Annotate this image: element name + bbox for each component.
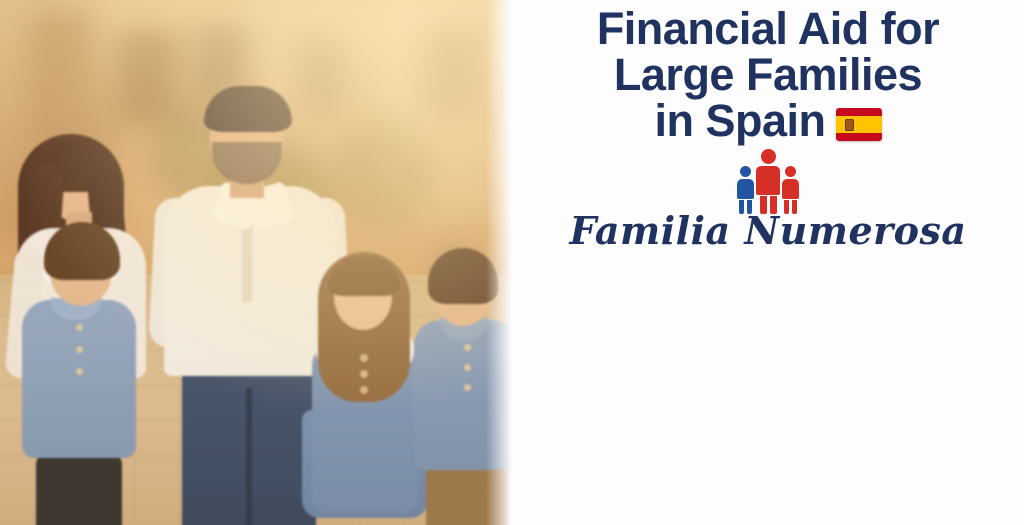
promo-banner: Financial Aid for Large Families in Spai… [0,0,1024,525]
headline-line-3: in Spain [524,98,1012,144]
page-title: Financial Aid for Large Families in Spai… [512,6,1024,144]
headline-line-1: Financial Aid for [524,6,1012,52]
family-figures [0,0,512,525]
content-panel: Financial Aid for Large Families in Spai… [512,0,1024,525]
family-icon-child-red [782,166,799,214]
figure-boy-left [20,222,140,525]
figure-girl [300,250,430,525]
family-icon-adult-red [756,149,780,214]
family-icon-child-blue [737,166,754,214]
photo-fade-edge [486,0,512,525]
family-photo [0,0,512,525]
headline-line-3-text: in Spain [654,95,825,146]
brand-script-text: Familia Numerosa [512,212,1024,250]
spain-flag-icon [836,108,882,141]
family-group-icon [512,162,1024,214]
headline-line-2: Large Families [524,52,1012,98]
